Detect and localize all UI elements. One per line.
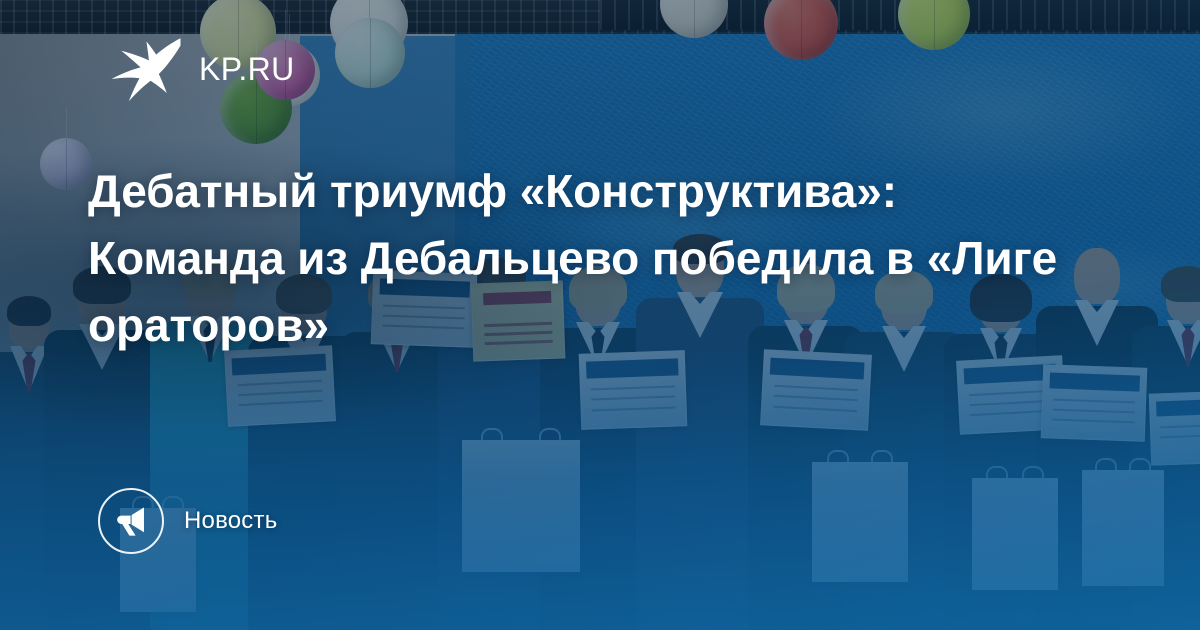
status-badge[interactable]: Новость (98, 488, 277, 554)
page-title: Дебатный триумф «Конструктива»: Команда … (88, 158, 1088, 359)
brand-logo[interactable]: KP.RU (110, 36, 295, 102)
swallow-bird-icon (110, 36, 182, 102)
social-share-card: KP.RU Дебатный триумф «Конструктива»: Ко… (0, 0, 1200, 630)
megaphone-icon (98, 488, 164, 554)
brand-name: KP.RU (199, 53, 295, 85)
status-badge-label: Новость (184, 507, 277, 535)
